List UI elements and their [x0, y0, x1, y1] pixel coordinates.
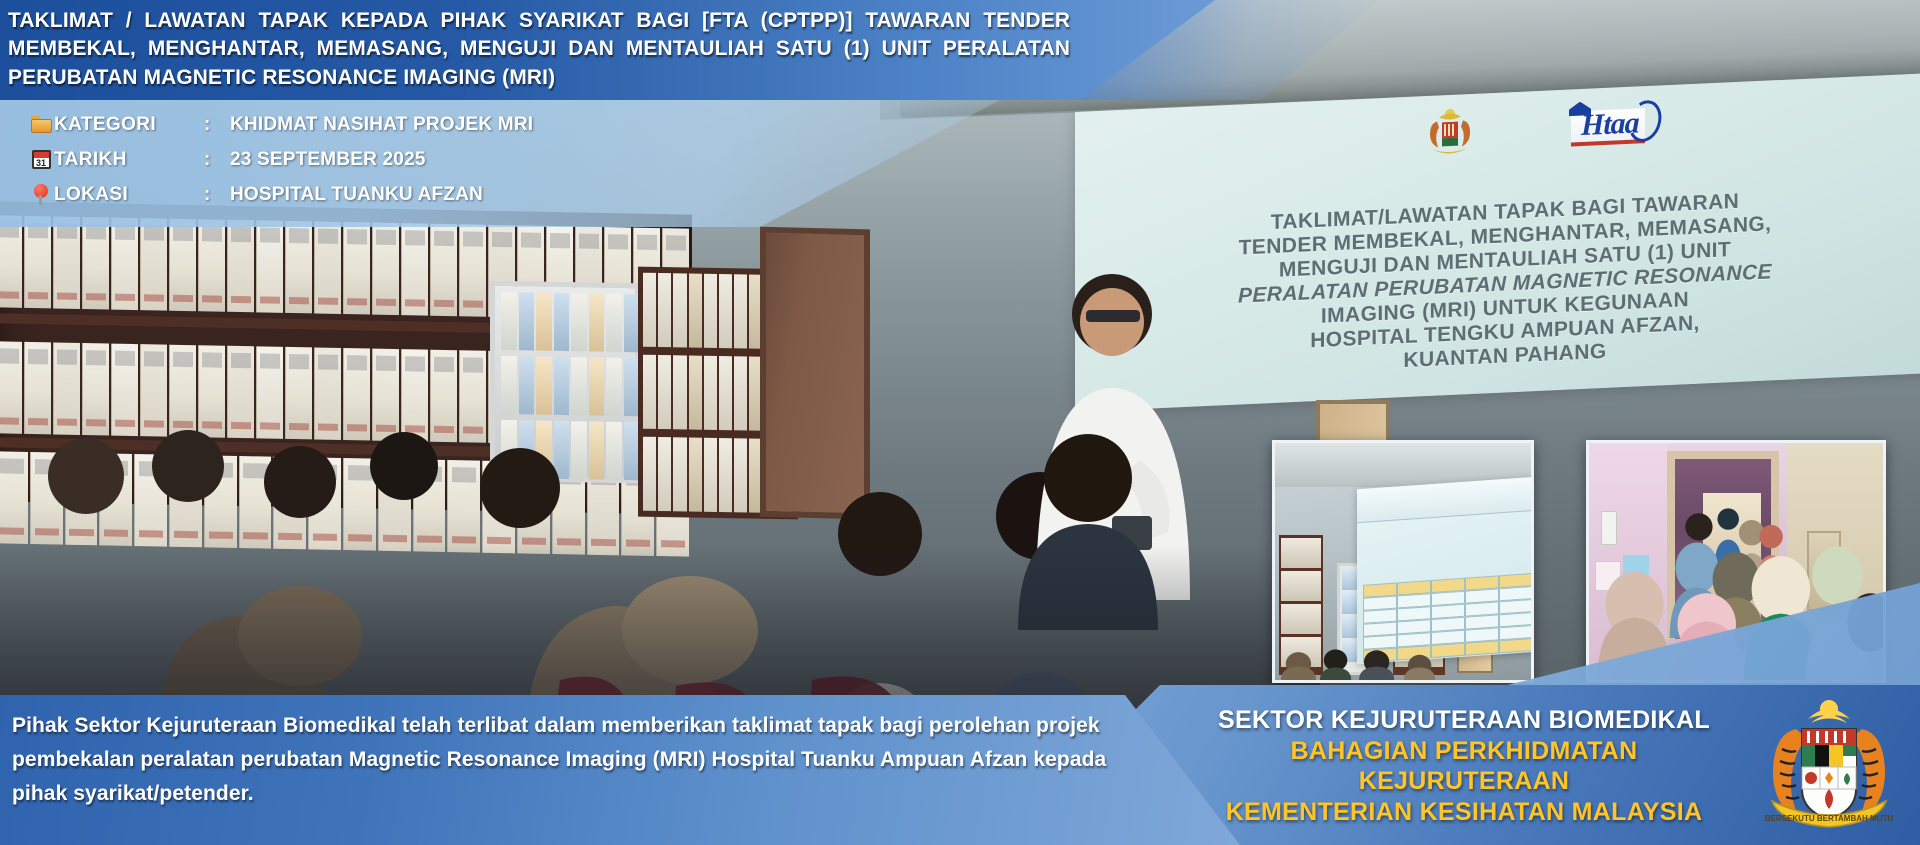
meta-colon: :	[204, 149, 230, 171]
calendar-day: 31	[34, 157, 49, 169]
meta-label-lokasi: LOKASI	[54, 184, 204, 206]
footer-line-sector: SEKTOR KEJURUTERAAN BIOMEDIKAL	[1184, 705, 1744, 736]
meta-row-lokasi: LOKASI : HOSPITAL TUANKU AFZAN	[28, 179, 533, 210]
calendar-icon: 31	[28, 150, 54, 169]
folder-icon	[28, 116, 54, 133]
caption-text: Pihak Sektor Kejuruteraan Biomedikal tel…	[12, 709, 1112, 811]
footer-org-text: SEKTOR KEJURUTERAAN BIOMEDIKAL BAHAGIAN …	[1184, 705, 1744, 827]
event-poster: Htaa TAKLIMAT/LAWATAN TAPAK BAGI TAWARAN…	[0, 0, 1920, 845]
inset-photo-briefing-room	[1272, 440, 1534, 683]
meta-value-kategori: KHIDMAT NASIHAT PROJEK MRI	[230, 114, 533, 136]
meta-colon: :	[204, 114, 230, 136]
meta-label-kategori: KATEGORI	[54, 114, 204, 136]
svg-text:BERSEKUTU BERTAMBAH MUTU: BERSEKUTU BERTAMBAH MUTU	[1765, 814, 1894, 823]
meta-label-tarikh: TARIKH	[54, 149, 204, 171]
jata-negara-emblem-icon: BERSEKUTU BERTAMBAH MUTU	[1756, 693, 1902, 835]
caption-band: Pihak Sektor Kejuruteraan Biomedikal tel…	[0, 695, 1240, 845]
location-pin-icon	[28, 184, 54, 205]
page-title: TAKLIMAT / LAWATAN TAPAK KEPADA PIHAK SY…	[8, 6, 1070, 91]
meta-row-tarikh: 31 TARIKH : 23 SEPTEMBER 2025	[28, 144, 533, 175]
meta-rows: KATEGORI : KHIDMAT NASIHAT PROJEK MRI 31…	[28, 109, 533, 214]
slide-logos: Htaa	[1419, 87, 1892, 162]
meta-value-lokasi: HOSPITAL TUANKU AFZAN	[230, 184, 483, 206]
htaa-logo: Htaa	[1571, 108, 1645, 146]
malaysia-crest-icon	[1419, 106, 1481, 163]
meta-colon: :	[204, 184, 230, 206]
footer-line-division: BAHAGIAN PERKHIDMATAN KEJURUTERAAN	[1184, 736, 1744, 797]
footer-line-ministry: KEMENTERIAN KESIHATAN MALAYSIA	[1184, 797, 1744, 828]
inset1-audience	[1275, 644, 1531, 680]
meta-row-kategori: KATEGORI : KHIDMAT NASIHAT PROJEK MRI	[28, 109, 533, 140]
meta-value-tarikh: 23 SEPTEMBER 2025	[230, 149, 426, 171]
